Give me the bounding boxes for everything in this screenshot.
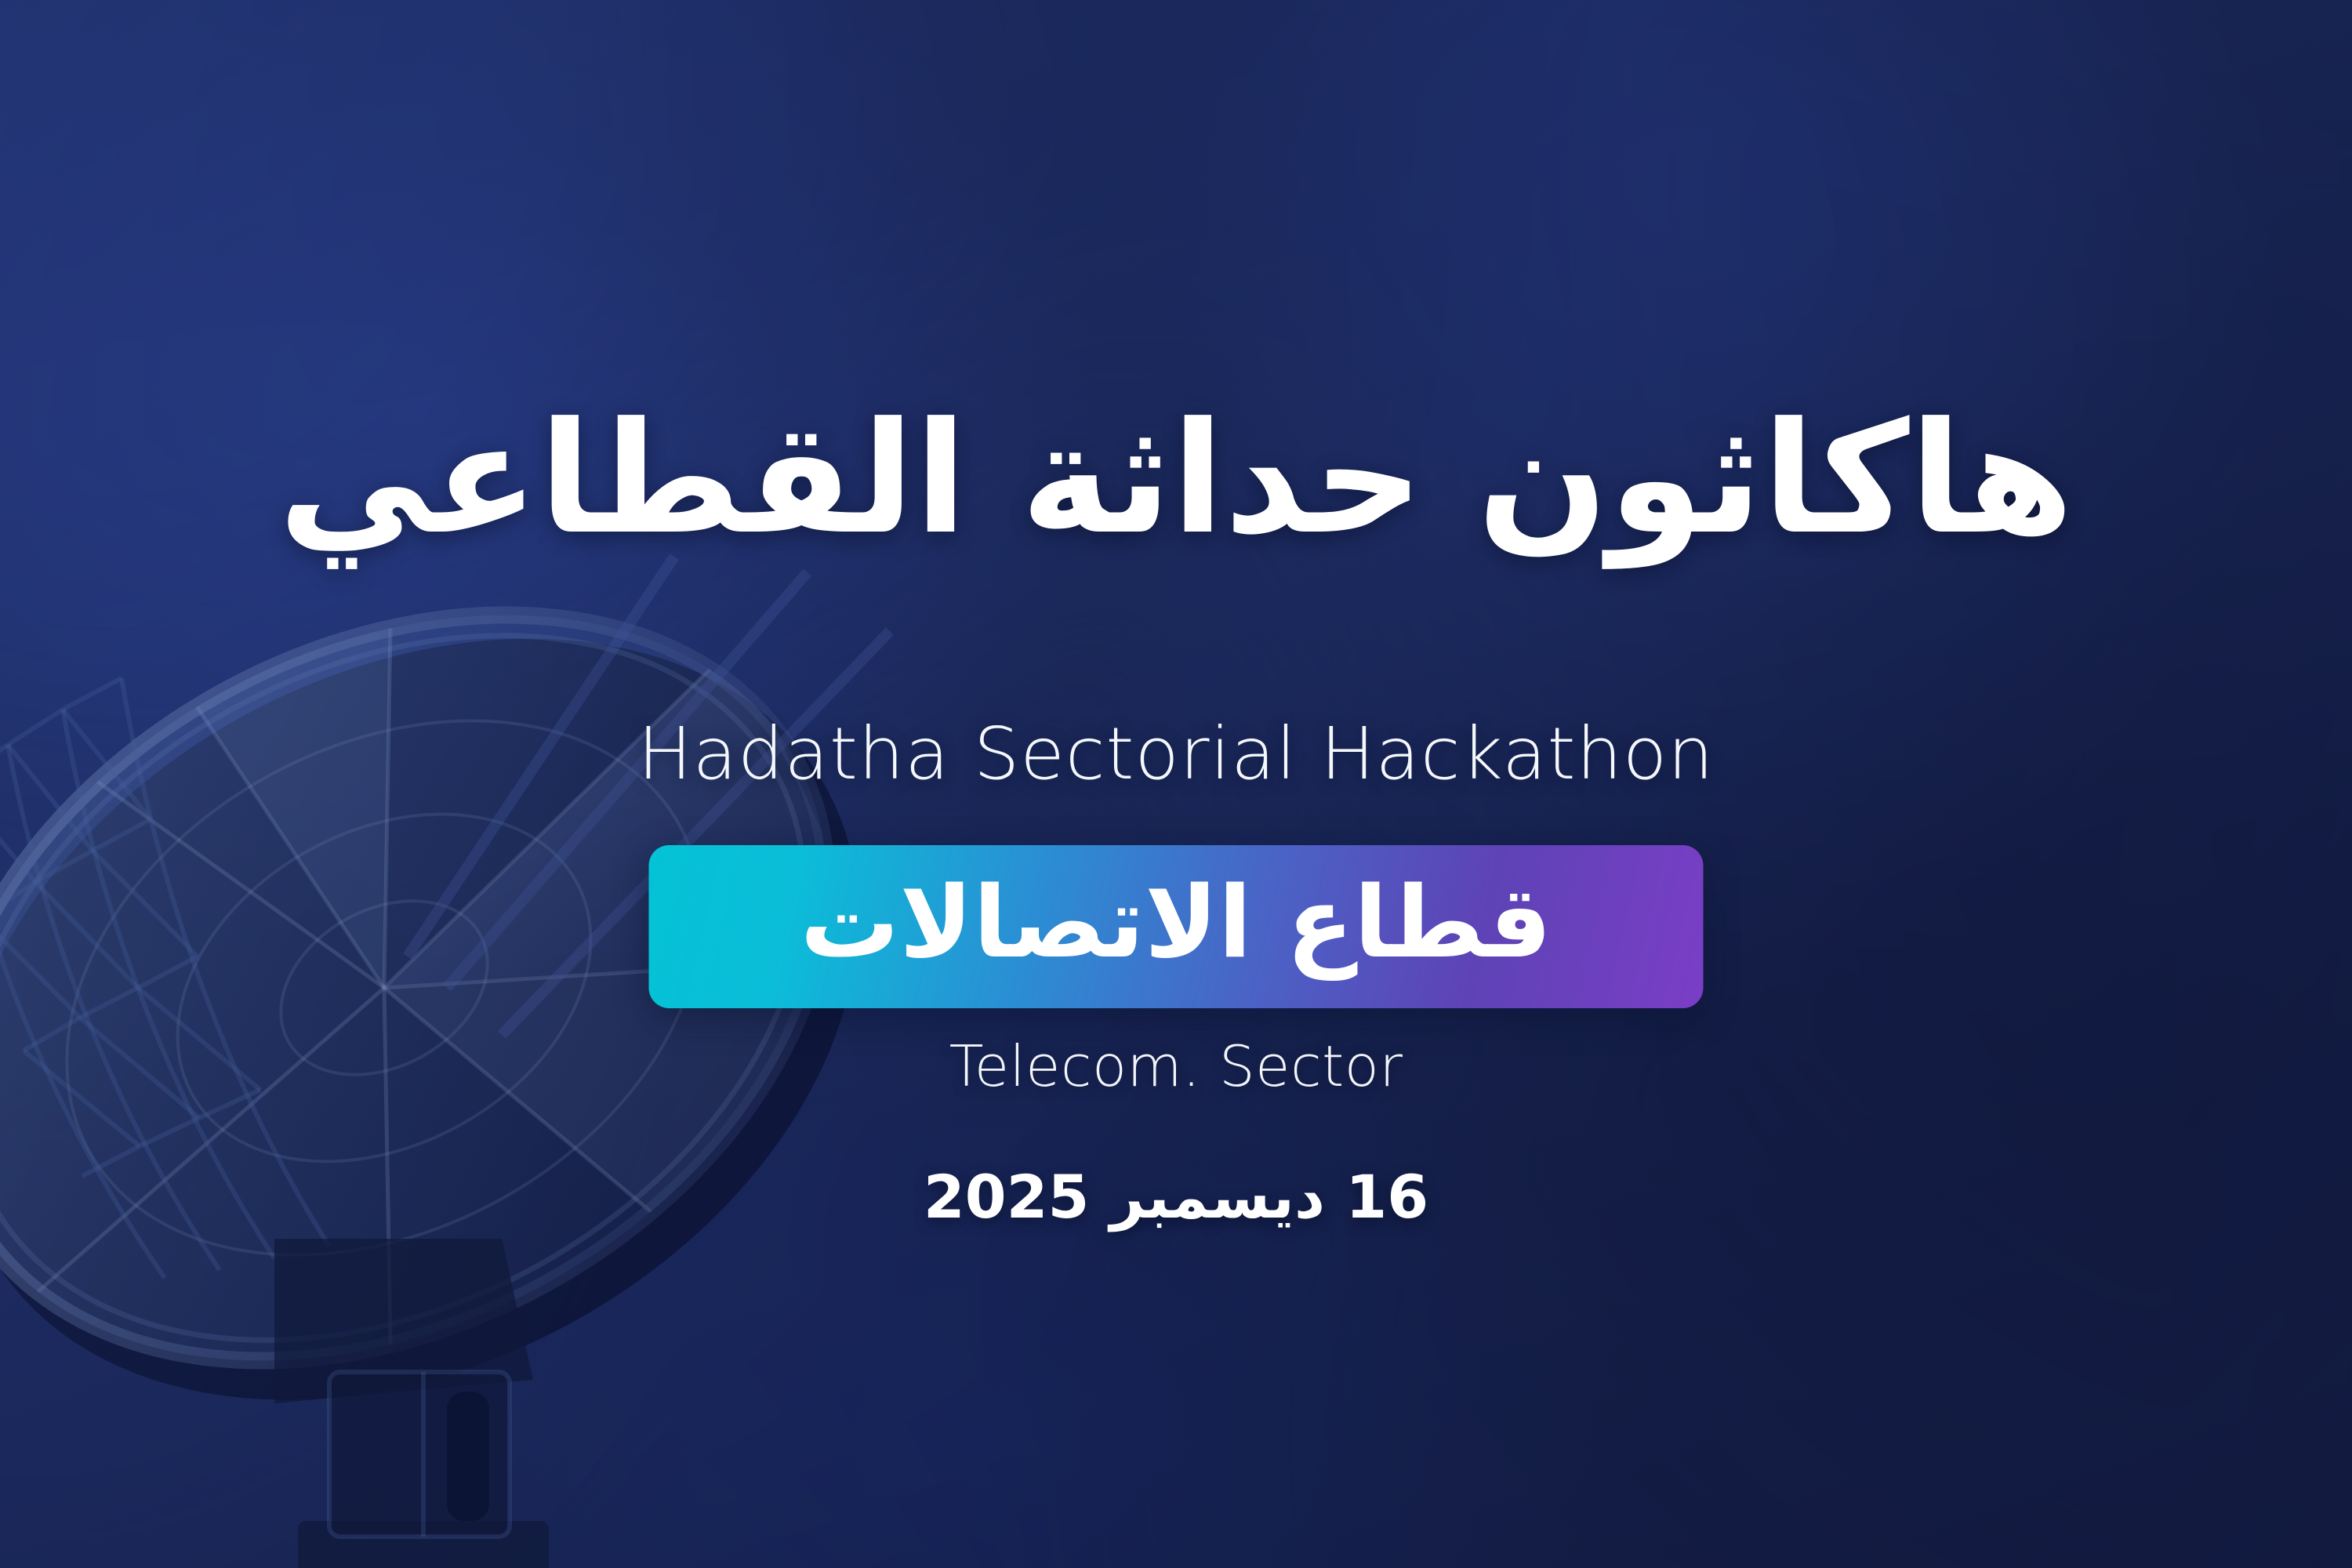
banner-content: هاكاثون حداثة القطاعي Hadatha Sectorial … (0, 0, 2352, 1568)
page-title-arabic: هاكاثون حداثة القطاعي (0, 398, 2352, 561)
sector-label-english: Telecom. Sector (0, 1033, 2352, 1099)
sector-badge: قطاع الاتصالات (649, 845, 1704, 1008)
page-title-english: Hadatha Sectorial Hackathon (0, 712, 2352, 796)
sector-badge-label-arabic: قطاع الاتصالات (800, 873, 1552, 980)
event-date: 16 ديسمبر 2025 (0, 1162, 2352, 1232)
event-banner: هاكاثون حداثة القطاعي Hadatha Sectorial … (0, 0, 2352, 1568)
